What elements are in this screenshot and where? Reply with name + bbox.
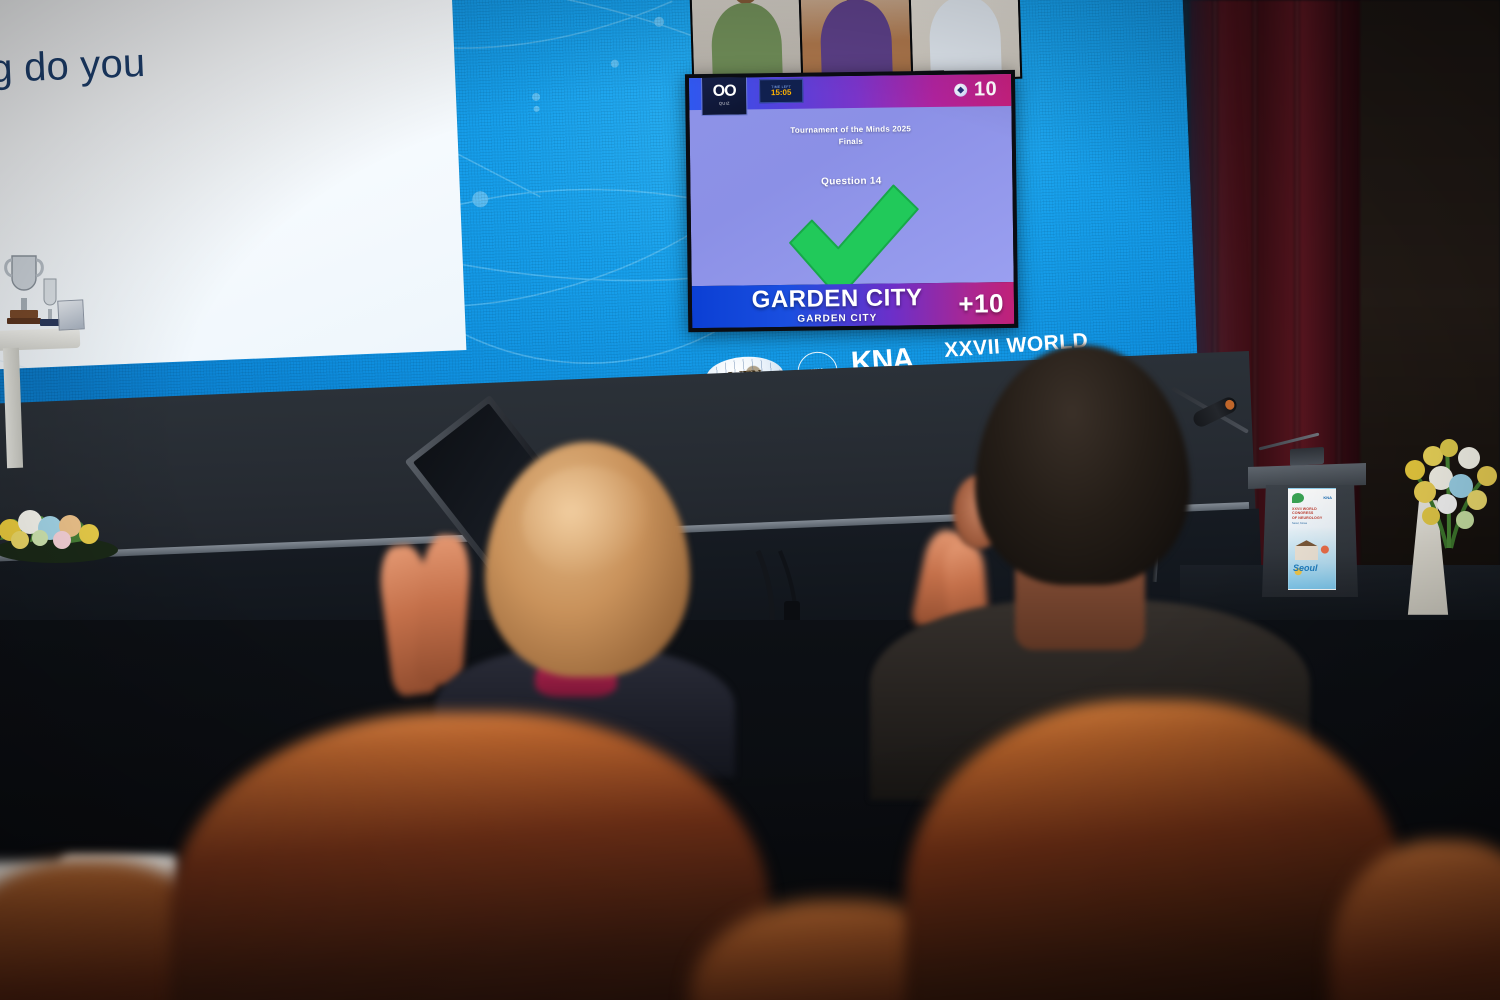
- quiz-platform-logo[interactable]: OO QUIZ: [701, 74, 748, 116]
- podium-banner-title-2: OF NEUROLOGY: [1292, 516, 1322, 520]
- flower-arrangement-right: [1385, 430, 1500, 550]
- podium-banner-artwork: [1289, 531, 1335, 589]
- quiz-title-line-2: Finals: [839, 137, 863, 146]
- laptop-icon: [1290, 447, 1324, 466]
- quiz-logo-mark: OO: [713, 84, 736, 100]
- quiz-panel: OO QUIZ TIME LEFT 15:05 10 Tournament of…: [685, 70, 1018, 332]
- video-tile[interactable]: Participant 6: [909, 0, 1020, 80]
- points-awarded: +10: [958, 288, 1004, 320]
- coin-icon: [954, 84, 967, 97]
- quiz-title: Tournament of the Minds 2025 Finals: [690, 122, 1012, 150]
- flower-arrangement-left: [0, 470, 120, 565]
- quiz-score-display: 10: [954, 78, 998, 102]
- team-result-bar: GARDEN CITY GARDEN CITY +10: [692, 282, 1015, 328]
- quiz-timer: TIME LEFT 15:05: [759, 79, 803, 104]
- podium-banner: KNA XXVII WORLD CONGRESS OF NEUROLOGY Se…: [1288, 488, 1336, 590]
- score-value: 10: [974, 78, 998, 101]
- podium-banner-subtitle: Seoul, Korea: [1292, 522, 1332, 525]
- award-plaque: [57, 299, 85, 330]
- slide-line-2: cular finding do you: [0, 21, 435, 107]
- podium-banner-title-1: XXVII WORLD CONGRESS: [1292, 507, 1317, 515]
- scene-root: or diagnostic cular finding do you Parti…: [0, 0, 1500, 1000]
- slide-body-text: or diagnostic cular finding do you: [0, 0, 435, 107]
- quiz-body: OO QUIZ TIME LEFT 15:05 10 Tournament of…: [689, 74, 1014, 286]
- congress-leaf-logo: [1292, 493, 1304, 503]
- quiz-logo-sub: QUIZ: [719, 101, 730, 106]
- quiz-title-line-1: Tournament of the Minds 2025: [790, 124, 911, 135]
- podium-kna-logo: KNA: [1323, 495, 1332, 500]
- attendee-blonde: [455, 442, 705, 742]
- podium-banner-city: Seoul: [1293, 563, 1318, 573]
- timer-value: 15:05: [771, 89, 792, 97]
- podium-banner-title: XXVII WORLD CONGRESS OF NEUROLOGY: [1292, 507, 1332, 520]
- team-name: GARDEN CITY: [716, 285, 959, 312]
